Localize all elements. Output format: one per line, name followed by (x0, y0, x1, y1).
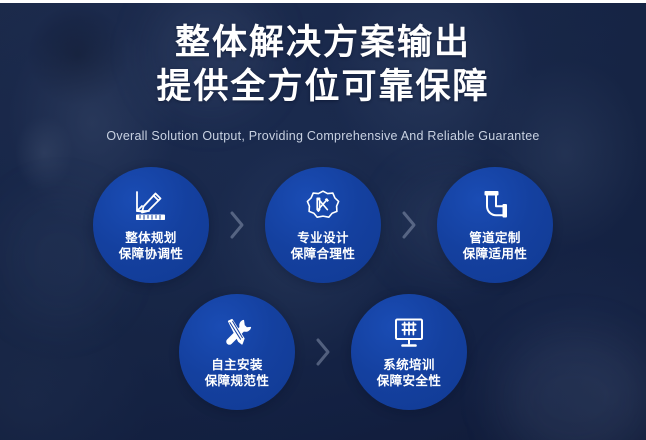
step-label: 专业设计 保障合理性 (291, 230, 356, 262)
step-system-training[interactable]: 系统培训 保障安全性 (351, 294, 467, 410)
wrench-screwdriver-icon (218, 316, 256, 350)
step-label: 管道定制 保障适用性 (463, 230, 528, 262)
process-row-top: 整体规划 保障协调性 (0, 167, 646, 283)
step-subtitle: 保障规范性 (205, 373, 270, 389)
chevron-right-icon (295, 294, 351, 410)
step-subtitle: 保障适用性 (463, 246, 528, 262)
design-badge-icon (305, 189, 341, 223)
headline-block: 整体解决方案输出 提供全方位可靠保障 (0, 3, 646, 109)
step-title: 整体规划 (119, 230, 184, 246)
chevron-right-icon (381, 167, 437, 283)
step-subtitle: 保障合理性 (291, 246, 356, 262)
step-overall-planning[interactable]: 整体规划 保障协调性 (93, 167, 209, 283)
step-subtitle: 保障安全性 (377, 373, 442, 389)
step-title: 自主安装 (205, 357, 270, 373)
step-title: 专业设计 (291, 230, 356, 246)
elbow-pipe-icon (476, 189, 514, 223)
headline-subtitle: Overall Solution Output, Providing Compr… (0, 129, 646, 143)
step-subtitle: 保障协调性 (119, 246, 184, 262)
chevron-right-icon (209, 167, 265, 283)
step-self-installation[interactable]: 自主安装 保障规范性 (179, 294, 295, 410)
step-title: 系统培训 (377, 357, 442, 373)
step-label: 整体规划 保障协调性 (119, 230, 184, 262)
step-pipe-customization[interactable]: 管道定制 保障适用性 (437, 167, 553, 283)
solution-banner: 整体解决方案输出 提供全方位可靠保障 Overall Solution Outp… (0, 0, 646, 440)
monitor-control-panel-icon (391, 316, 427, 350)
headline-line-2: 提供全方位可靠保障 (0, 65, 646, 109)
step-label: 系统培训 保障安全性 (377, 357, 442, 389)
step-professional-design[interactable]: 专业设计 保障合理性 (265, 167, 381, 283)
step-label: 自主安装 保障规范性 (205, 357, 270, 389)
step-title: 管道定制 (463, 230, 528, 246)
banner-content: 整体解决方案输出 提供全方位可靠保障 Overall Solution Outp… (0, 3, 646, 440)
headline-line-1: 整体解决方案输出 (0, 21, 646, 65)
process-steps: 整体规划 保障协调性 (0, 167, 646, 410)
process-row-bottom: 自主安装 保障规范性 (0, 294, 646, 410)
ruler-pencil-drafting-icon (131, 189, 171, 223)
